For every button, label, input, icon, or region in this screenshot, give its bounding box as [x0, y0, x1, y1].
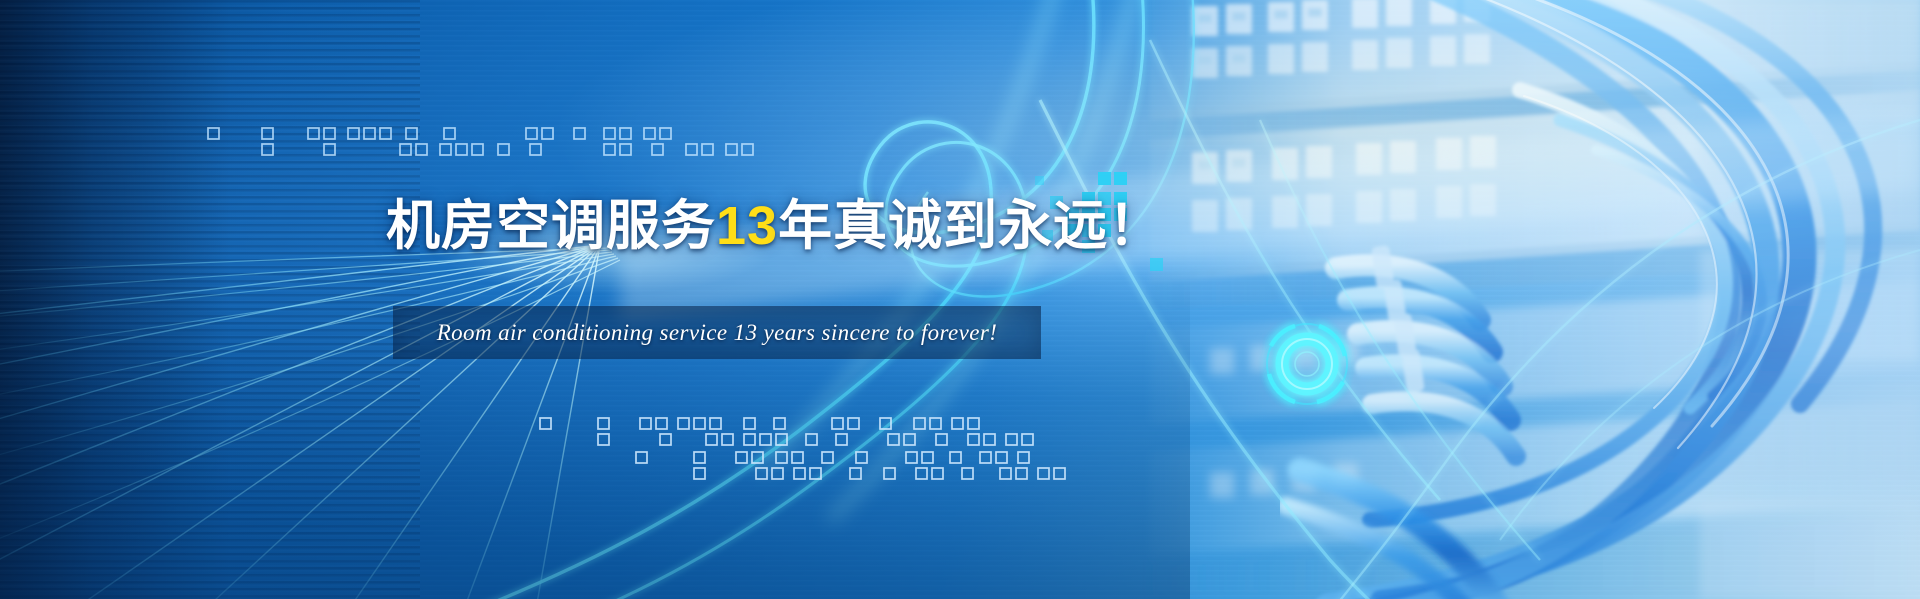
banner-headline: 机房空调服务13年真诚到永远！ [386, 199, 1163, 253]
headline-highlight: 13 [716, 196, 778, 256]
banner-subtitle: Room air conditioning service 13 years s… [393, 306, 1041, 359]
headline-suffix: 年真诚到永远！ [778, 196, 1163, 256]
headline-prefix: 机房空调服务 [386, 196, 716, 256]
square-mosaic-bottom [0, 0, 1920, 599]
hero-banner: 机房空调服务13年真诚到永远！ Room air conditioning se… [0, 0, 1920, 599]
